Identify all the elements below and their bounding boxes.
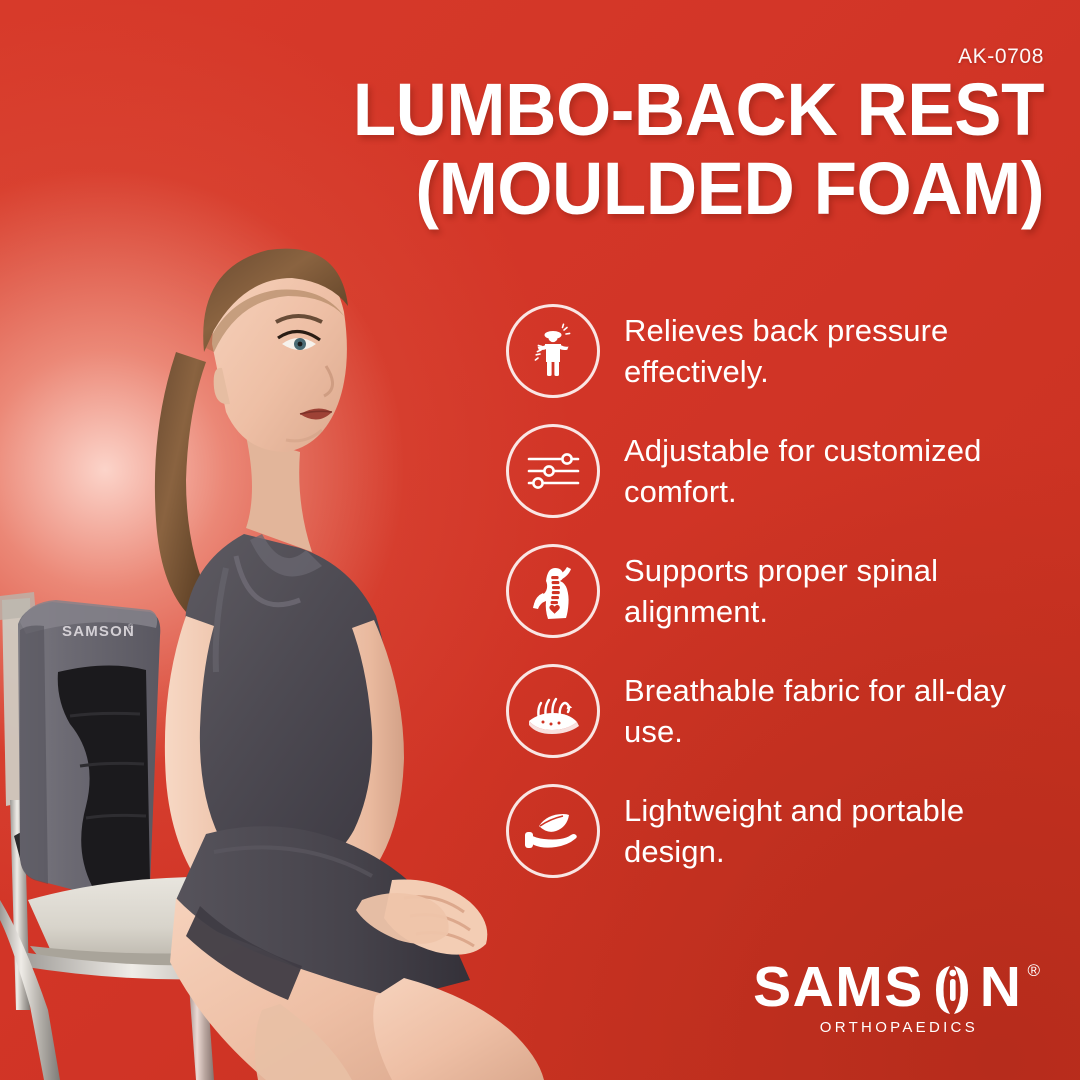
logo-word-part2: N <box>980 959 1023 1016</box>
spine-alignment-icon <box>506 544 600 638</box>
product-title: LUMBO-BACK REST (MOULDED FOAM) <box>314 74 1044 225</box>
logo-tagline: ORTHOPAEDICS <box>753 1019 978 1036</box>
adjustable-sliders-icon <box>506 424 600 518</box>
benefit-item: Lightweight and portable design. <box>506 784 1062 878</box>
title-line-2: (MOULDED FOAM) <box>343 153 1044 226</box>
benefit-item: Adjustable for customized comfort. <box>506 424 1062 518</box>
brand-logo: SAMS N ® ORTHOPAEDICS <box>753 959 1040 1036</box>
product-code: AK-0708 <box>958 45 1044 69</box>
benefit-text: Adjustable for customized comfort. <box>624 424 1056 512</box>
logo-word-part1: SAMS <box>753 959 924 1016</box>
benefit-text: Lightweight and portable design. <box>624 784 1056 872</box>
cushion-brand-label: SAMSON <box>62 623 135 640</box>
benefit-text: Supports proper spinal alignment. <box>624 544 1056 632</box>
breathable-fabric-icon <box>506 664 600 758</box>
title-line-1: LUMBO-BACK REST <box>343 74 1044 147</box>
benefit-text: Breathable fabric for all-day use. <box>624 664 1056 752</box>
hand-leaf-lightweight-icon <box>506 784 600 878</box>
back-pain-person-icon <box>506 304 600 398</box>
registered-trademark-symbol: ® <box>1027 962 1040 979</box>
benefit-item: Relieves back pressure effectively. <box>506 304 1062 398</box>
logo-spine-o-icon <box>924 959 980 1016</box>
logo-wordmark: SAMS N <box>753 959 1022 1016</box>
benefit-item: Supports proper spinal alignment. <box>506 544 1062 638</box>
poster-canvas: SAMSON ® <box>0 0 1080 1080</box>
benefits-list: Relieves back pressure effectively. <box>506 304 1062 878</box>
svg-text:®: ® <box>128 623 134 631</box>
benefit-text: Relieves back pressure effectively. <box>624 304 1056 392</box>
benefit-item: Breathable fabric for all-day use. <box>506 664 1062 758</box>
